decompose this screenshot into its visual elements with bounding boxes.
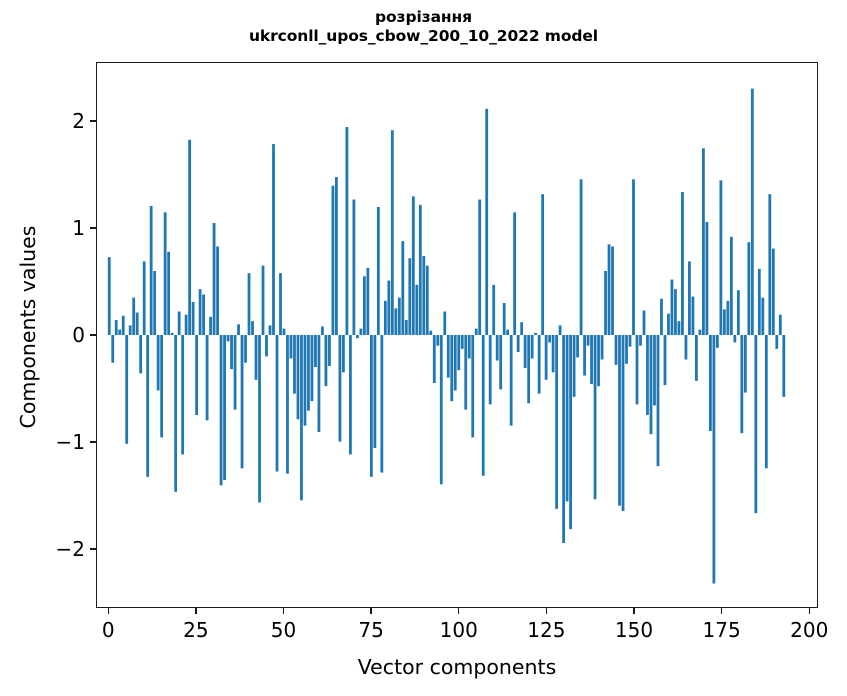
bar [552, 335, 555, 372]
bar [685, 335, 688, 360]
bar [688, 261, 691, 335]
chart-title: розрізання ukrconll_upos_cbow_200_10_202… [0, 8, 847, 46]
bar [527, 335, 530, 403]
bar [230, 335, 233, 369]
bar [122, 316, 125, 335]
bar [363, 276, 366, 335]
y-tick-mark [90, 441, 96, 442]
bar [223, 335, 226, 480]
bar [436, 335, 439, 346]
bar [674, 289, 677, 335]
bar [234, 335, 237, 410]
bar [726, 301, 729, 335]
y-tick-mark [90, 334, 96, 335]
bar [290, 335, 293, 358]
bar [244, 335, 247, 363]
bar [531, 335, 534, 358]
bar [373, 335, 376, 448]
bar [262, 266, 265, 335]
bar [555, 335, 558, 509]
bar [450, 335, 453, 401]
bar [269, 325, 272, 335]
bar [346, 127, 349, 335]
x-tick-mark [721, 608, 722, 614]
bar [342, 335, 345, 372]
bar [265, 335, 268, 356]
bar [541, 194, 544, 335]
bar [779, 315, 782, 335]
bar [636, 335, 639, 404]
x-tick-mark [283, 608, 284, 614]
bar [377, 207, 380, 335]
bar [737, 290, 740, 335]
bar [646, 335, 649, 415]
bar [706, 222, 709, 335]
bar [283, 329, 286, 335]
y-tick-mark [90, 120, 96, 121]
bar [485, 109, 488, 335]
bar [332, 186, 335, 335]
bar [569, 335, 572, 529]
bar [398, 298, 401, 335]
bar [125, 335, 128, 444]
bar [349, 335, 352, 454]
bar [660, 299, 663, 335]
bar [241, 335, 244, 468]
bar [566, 335, 569, 501]
plot-axes [96, 62, 818, 608]
bar [629, 335, 632, 347]
bar [419, 205, 422, 335]
bar [153, 271, 156, 335]
bar [255, 335, 258, 380]
bar [667, 314, 670, 335]
bar [464, 335, 467, 410]
bar [272, 144, 275, 335]
bar [300, 335, 303, 500]
bar [758, 269, 761, 335]
bar [702, 148, 705, 335]
x-tick-label: 150 [594, 617, 674, 643]
x-tick-mark [108, 608, 109, 614]
bar [352, 200, 355, 335]
bar [454, 335, 457, 390]
bar [618, 335, 621, 506]
bar [160, 335, 163, 437]
bar [325, 335, 328, 386]
x-tick-label: 125 [506, 617, 586, 643]
x-axis-label: Vector components [96, 655, 818, 679]
bar [583, 335, 586, 376]
bar [415, 285, 418, 335]
bar [657, 335, 660, 466]
plot-area [97, 63, 817, 607]
bar [580, 179, 583, 335]
x-tick-label: 100 [419, 617, 499, 643]
x-tick-mark [633, 608, 634, 614]
bar [695, 335, 698, 381]
bar [489, 335, 492, 404]
bar [478, 200, 481, 335]
chart-figure: розрізання ukrconll_upos_cbow_200_10_202… [0, 0, 847, 696]
bar [146, 335, 149, 477]
bar [335, 177, 338, 335]
bar [143, 261, 146, 335]
bar [653, 335, 656, 405]
bar [429, 331, 432, 335]
bar [639, 335, 642, 346]
bar [548, 335, 551, 342]
bar [457, 335, 460, 370]
bar [178, 312, 181, 335]
bar [503, 303, 506, 335]
x-tick-mark [370, 608, 371, 614]
chart-title-line-2: ukrconll_upos_cbow_200_10_2022 model [0, 27, 847, 46]
bar [513, 212, 516, 335]
y-tick-label: 1 [72, 215, 85, 241]
bar [199, 289, 202, 335]
bar [622, 335, 625, 511]
bar [475, 329, 478, 335]
bar [751, 89, 754, 335]
bar [443, 312, 446, 335]
bar [716, 335, 719, 348]
bar [681, 192, 684, 335]
bar [775, 335, 778, 349]
bar [782, 335, 785, 397]
chart-title-line-1: розрізання [0, 8, 847, 27]
bar [496, 335, 499, 361]
x-tick-mark [458, 608, 459, 614]
bar [433, 335, 436, 383]
bar [740, 335, 743, 433]
bar [202, 294, 205, 335]
bar [597, 335, 600, 386]
bar [768, 194, 771, 335]
bar [517, 335, 520, 352]
x-tick-mark [809, 608, 810, 614]
bar [650, 335, 653, 434]
bar [671, 280, 674, 335]
y-tick-mark [90, 227, 96, 228]
bar [520, 322, 523, 335]
bar [538, 335, 541, 394]
bar [573, 335, 576, 397]
x-tick-label: 175 [682, 617, 762, 643]
bar [157, 335, 160, 390]
bar [723, 309, 726, 335]
bar [408, 258, 411, 335]
bar [524, 335, 527, 368]
bar [380, 335, 383, 473]
bar [181, 335, 184, 454]
bar [356, 335, 359, 338]
bar [534, 333, 537, 335]
bar [499, 335, 502, 389]
bar [111, 335, 114, 363]
bar [761, 298, 764, 335]
x-tick-mark [546, 608, 547, 614]
bar [601, 335, 604, 360]
bar [461, 335, 464, 349]
bar [359, 329, 362, 335]
bar [132, 298, 135, 335]
bar [251, 321, 254, 335]
bar [311, 335, 314, 401]
bar [297, 335, 300, 419]
bar [237, 324, 240, 335]
bar [136, 313, 139, 335]
x-tick-label: 50 [244, 617, 324, 643]
bar [276, 335, 279, 472]
bar [604, 271, 607, 335]
bar [118, 330, 121, 335]
bar [213, 223, 216, 335]
bar [772, 249, 775, 335]
bar [712, 335, 715, 584]
bar [307, 335, 310, 411]
bar [108, 257, 111, 335]
bar [426, 266, 429, 335]
bar [188, 140, 191, 335]
bar [195, 335, 198, 415]
bar [594, 335, 597, 499]
bar [328, 335, 331, 366]
bar [471, 335, 474, 437]
bar [744, 335, 747, 393]
bar [643, 310, 646, 335]
bar [545, 335, 548, 380]
bar [139, 335, 142, 373]
bar [384, 301, 387, 335]
bar [258, 335, 261, 502]
y-tick-label: 2 [72, 108, 85, 134]
bar [220, 335, 223, 485]
bar [754, 335, 757, 513]
bar [709, 335, 712, 431]
bar [279, 273, 282, 335]
bar [625, 335, 628, 364]
x-tick-mark [195, 608, 196, 614]
bar [440, 335, 443, 484]
bar [590, 335, 593, 384]
bar [129, 325, 132, 335]
bar [608, 244, 611, 335]
bar-series [97, 63, 817, 607]
bar [482, 335, 485, 476]
bar [164, 212, 167, 335]
bar [174, 335, 177, 492]
bar [615, 335, 618, 365]
bar [339, 335, 342, 442]
bar [318, 335, 321, 432]
bar [506, 330, 509, 335]
bar [167, 252, 170, 335]
bar [678, 321, 681, 335]
bar [370, 335, 373, 477]
bar [559, 325, 562, 335]
bar [492, 285, 495, 335]
bar [405, 320, 408, 335]
x-tick-label: 0 [68, 617, 148, 643]
bar [401, 241, 404, 335]
bar [192, 302, 195, 335]
y-tick-label: −2 [56, 536, 85, 562]
bar [422, 256, 425, 335]
bar [209, 317, 212, 335]
bar [248, 273, 251, 335]
bar [366, 268, 369, 335]
bar [412, 196, 415, 335]
bar [699, 330, 702, 335]
bar [765, 335, 768, 468]
bar [150, 206, 153, 335]
bar [216, 246, 219, 335]
bar [206, 335, 209, 420]
y-axis-label: Components values [16, 47, 40, 607]
bar [611, 246, 614, 335]
bar [391, 130, 394, 335]
bar [733, 335, 736, 342]
bar [304, 335, 307, 426]
y-tick-label: −1 [56, 429, 85, 455]
bar [314, 335, 317, 367]
bar [747, 242, 750, 335]
bar [510, 335, 513, 426]
bar [468, 335, 471, 358]
bar [286, 335, 289, 474]
bar [171, 333, 174, 335]
bar [227, 335, 230, 341]
bar [730, 237, 733, 335]
bar [664, 335, 667, 385]
x-tick-label: 75 [331, 617, 411, 643]
bar [576, 335, 579, 357]
bar [185, 315, 188, 335]
bar [115, 320, 118, 335]
bar [321, 326, 324, 335]
y-tick-label: 0 [72, 322, 85, 348]
bar [394, 308, 397, 335]
bar [692, 297, 695, 335]
y-tick-mark [90, 548, 96, 549]
bar [447, 335, 450, 378]
bar [632, 179, 635, 335]
bar [587, 335, 590, 346]
x-tick-label: 200 [769, 617, 847, 643]
bar [293, 335, 296, 394]
bar [387, 281, 390, 335]
bar [562, 335, 565, 543]
x-tick-label: 25 [156, 617, 236, 643]
bar [719, 180, 722, 335]
